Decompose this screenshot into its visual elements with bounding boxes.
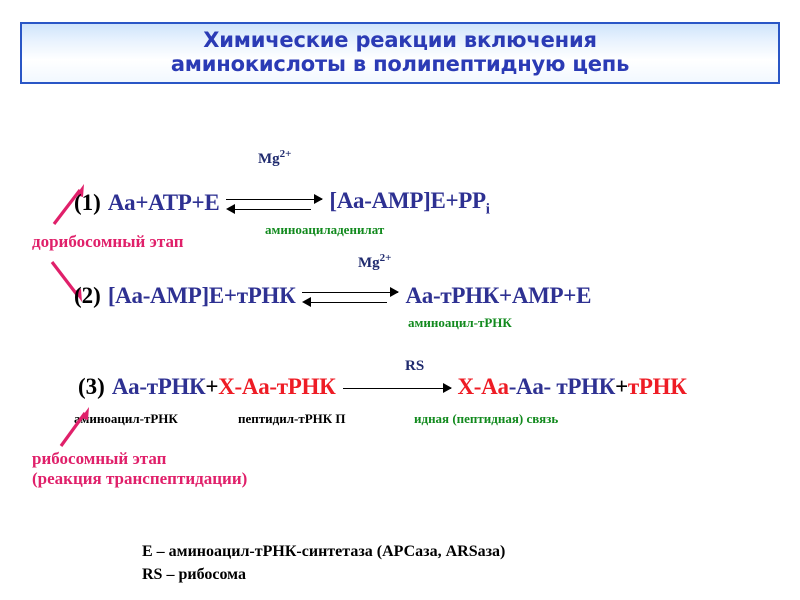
stage-label-prerибosomal: дорибосомный этап xyxy=(32,232,184,252)
reaction-2-products: Aa-тРНК+AMP+E xyxy=(405,283,591,309)
reaction-3-product-trna: тРНК xyxy=(628,374,687,400)
stage-pointer-arrow-3 xyxy=(56,404,100,455)
reaction-1-catalyst: Mg2+ xyxy=(258,148,291,168)
reaction-3-reactant-peptidyl: X-Aa-тРНК xyxy=(218,374,335,400)
stage-label-ribosomal: рибосомный этап (реакция транспептидации… xyxy=(32,449,247,489)
legend-block: Е – аминоацил-тРНК-синтетаза (АРСаза, AR… xyxy=(142,540,505,586)
reaction-3-product-aa-trna: -Aa- тРНК xyxy=(509,374,615,400)
reaction-row-1: (1) Aa+ATP+E [Aa-AMP]E+PPi xyxy=(74,188,490,219)
page-title-line-2: аминокислоты в полипептидную цепь xyxy=(171,53,629,77)
legend-line-enzyme: Е – аминоацил-тРНК-синтетаза (АРСаза, AR… xyxy=(142,540,505,563)
reaction-3-reactant-aminoacyl: Aa-тРНК xyxy=(112,374,206,400)
reaction-1-annotation: аминоациладенилат xyxy=(265,222,384,238)
slide-title-banner: Химические реакции включения аминокислот… xyxy=(20,22,780,84)
reaction-1-catalyst-symbol: Mg xyxy=(258,151,280,167)
reaction-3-index: (3) xyxy=(78,374,105,400)
reaction-3-annotation-peptidyl: пептидил-тРНК П xyxy=(238,411,346,427)
reaction-1-reversible-arrow xyxy=(226,188,322,218)
reaction-2-index: (2) xyxy=(74,283,101,309)
reaction-3-product-x-aa: X-Aa xyxy=(458,374,509,400)
reaction-1-products-subscript: i xyxy=(486,202,490,218)
reaction-1-catalyst-charge: 2+ xyxy=(280,148,292,160)
reaction-2-annotation: аминоацил-тРНК xyxy=(408,315,512,331)
stage-1-line-1: дорибосомный этап xyxy=(32,232,184,252)
reaction-3-product-plus: + xyxy=(615,374,628,400)
reaction-2-catalyst: Mg2+ xyxy=(358,252,391,272)
page-title-line-1: Химические реакции включения xyxy=(203,29,597,53)
reaction-2-catalyst-symbol: Mg xyxy=(358,255,380,271)
reaction-1-products: [Aa-AMP]E+PPi xyxy=(329,188,489,219)
stage-2-line-2: (реакция транспептидации) xyxy=(32,469,247,489)
reaction-row-3: (3) Aa-тРНК + X-Aa-тРНК X-Aa -Aa- тРНК +… xyxy=(78,372,687,402)
reaction-3-annotation-peptide-bond: идная (пептидная) связь xyxy=(414,411,558,427)
reaction-3-forward-arrow xyxy=(343,372,451,402)
legend-line-ribosome: RS – рибосома xyxy=(142,563,505,586)
reaction-2-reversible-arrow xyxy=(302,281,398,311)
stage-2-line-1: рибосомный этап xyxy=(32,449,247,469)
reaction-row-2: (2) [Aa-AMP]E+тРНК Aa-тРНК+AMP+E xyxy=(74,281,591,311)
reaction-1-reactants: Aa+ATP+E xyxy=(108,190,220,216)
reaction-3-reactant-plus: + xyxy=(205,374,218,400)
reaction-1-index: (1) xyxy=(74,190,101,216)
reaction-2-reactants: [Aa-AMP]E+тРНК xyxy=(108,283,296,309)
reaction-1-products-main: [Aa-AMP]E+PP xyxy=(329,188,485,213)
reaction-2-catalyst-charge: 2+ xyxy=(380,252,392,264)
